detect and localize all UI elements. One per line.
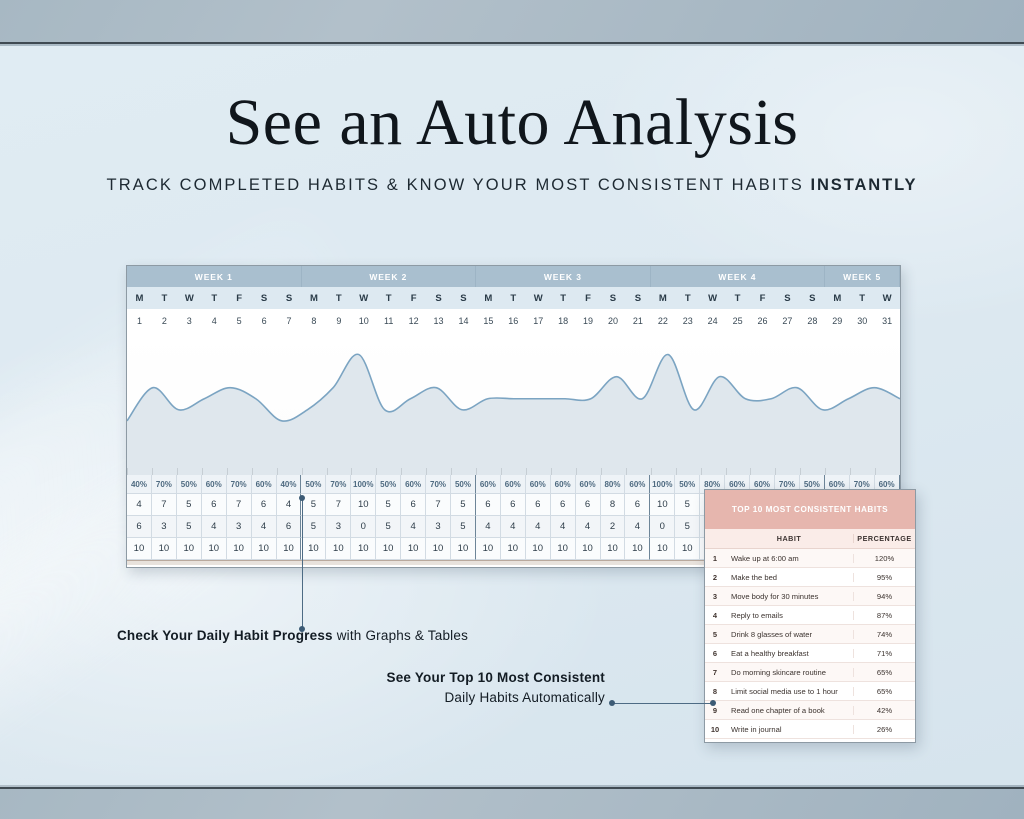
completed-cell-17[interactable]: 6 — [526, 494, 551, 516]
day-letter-cell-3: W — [177, 287, 202, 309]
bottom-frame-band — [0, 787, 1024, 819]
callout-graphs-tables: Check Your Daily Habit Progress with Gra… — [0, 626, 585, 646]
percent-cell-11[interactable]: 50% — [376, 475, 401, 494]
top-10-row[interactable]: 3Move body for 30 minutes94% — [705, 587, 915, 606]
total-cell-7[interactable]: 10 — [277, 538, 302, 560]
day-number-cell-24: 24 — [700, 309, 725, 332]
completed-cell-7[interactable]: 4 — [277, 494, 302, 516]
top-10-habit-name: Move body for 30 minutes — [725, 592, 853, 601]
day-number-cell-14: 14 — [451, 309, 476, 332]
top-10-habit-name: Drink 8 glasses of water — [725, 630, 853, 639]
completed-cell-14[interactable]: 5 — [451, 494, 476, 516]
percent-cell-3[interactable]: 50% — [177, 475, 202, 494]
percent-cell-1[interactable]: 40% — [127, 475, 152, 494]
percent-cell-6[interactable]: 60% — [252, 475, 277, 494]
day-letter-cell-1: M — [127, 287, 152, 309]
missed-cell-16[interactable]: 4 — [501, 516, 526, 538]
day-letter-cell-20: S — [601, 287, 626, 309]
missed-cell-14[interactable]: 5 — [451, 516, 476, 538]
missed-cell-6[interactable]: 4 — [252, 516, 277, 538]
axis-tick-26 — [750, 468, 775, 475]
day-letter-cell-18: T — [551, 287, 576, 309]
day-number-cell-23: 23 — [675, 309, 700, 332]
connector-dot-bottom — [299, 626, 305, 632]
percent-cell-14[interactable]: 50% — [451, 475, 476, 494]
callout-top-10: See Your Top 10 Most Consistent Daily Ha… — [0, 668, 605, 707]
percent-cell-7[interactable]: 40% — [277, 475, 302, 494]
day-number-cell-8: 8 — [301, 309, 326, 332]
habit-area-chart[interactable] — [127, 332, 900, 475]
week-header-3: WEEK 3 — [476, 266, 651, 287]
total-cell-1[interactable]: 10 — [127, 538, 152, 560]
missed-cell-9[interactable]: 3 — [326, 516, 351, 538]
day-letter-cell-23: T — [675, 287, 700, 309]
day-letter-cell-30: T — [850, 287, 875, 309]
top-10-habit-percentage: 87% — [853, 611, 915, 620]
missed-cell-11[interactable]: 5 — [376, 516, 401, 538]
connector-dot-left — [609, 700, 615, 706]
percent-cell-4[interactable]: 60% — [202, 475, 227, 494]
total-cell-20[interactable]: 10 — [601, 538, 626, 560]
top-10-habit-col-header: HABIT — [725, 534, 853, 543]
top-10-habit-percentage: 42% — [853, 706, 915, 715]
axis-tick-2 — [152, 468, 177, 475]
top-10-habit-percentage: 65% — [853, 687, 915, 696]
total-cell-6[interactable]: 10 — [252, 538, 277, 560]
percent-cell-15[interactable]: 60% — [476, 475, 501, 494]
day-letter-cell-19: F — [576, 287, 601, 309]
completed-cell-10[interactable]: 10 — [351, 494, 376, 516]
total-cell-16[interactable]: 10 — [501, 538, 526, 560]
callout-two-bold: See Your Top 10 Most Consistent — [387, 670, 605, 685]
top-frame-band — [0, 0, 1024, 44]
axis-tick-1 — [127, 468, 152, 475]
total-cell-3[interactable]: 10 — [177, 538, 202, 560]
day-number-cell-21: 21 — [625, 309, 650, 332]
top-10-rank-10: 10 — [705, 725, 725, 734]
percent-cell-8[interactable]: 50% — [301, 475, 326, 494]
chart-axis-ticks — [127, 468, 900, 475]
axis-tick-22 — [651, 468, 676, 475]
day-number-cell-1: 1 — [127, 309, 152, 332]
top-10-habit-percentage: 65% — [853, 668, 915, 677]
completed-cell-13[interactable]: 7 — [426, 494, 451, 516]
top-10-column-header-row: HABIT PERCENTAGE — [705, 529, 915, 549]
day-letter-cell-24: W — [700, 287, 725, 309]
day-letter-cell-12: F — [401, 287, 426, 309]
axis-tick-8 — [302, 468, 327, 475]
missed-cell-13[interactable]: 3 — [426, 516, 451, 538]
day-letter-cell-8: M — [301, 287, 326, 309]
day-number-cell-25: 25 — [725, 309, 750, 332]
top-10-habit-name: Read one chapter of a book — [725, 706, 853, 715]
percent-cell-19[interactable]: 60% — [576, 475, 601, 494]
top-10-rank-8: 8 — [705, 687, 725, 696]
day-letter-cell-28: S — [800, 287, 825, 309]
week-header-1: WEEK 1 — [127, 266, 302, 287]
total-cell-4[interactable]: 10 — [202, 538, 227, 560]
completed-cell-19[interactable]: 6 — [576, 494, 601, 516]
page-title: See an Auto Analysis — [0, 88, 1024, 157]
day-letter-cell-7: S — [277, 287, 302, 309]
top-10-row[interactable]: 9Read one chapter of a book42% — [705, 701, 915, 720]
top-10-row[interactable]: 1Wake up at 6:00 am120% — [705, 549, 915, 568]
completed-cell-5[interactable]: 7 — [227, 494, 252, 516]
top-10-rank-2: 2 — [705, 573, 725, 582]
top-10-habits-card[interactable]: TOP 10 MOST CONSISTENT HABITS HABIT PERC… — [704, 489, 916, 743]
total-cell-8[interactable]: 10 — [301, 538, 326, 560]
axis-tick-14 — [451, 468, 476, 475]
total-cell-19[interactable]: 10 — [576, 538, 601, 560]
axis-tick-21 — [626, 468, 651, 475]
missed-cell-15[interactable]: 4 — [476, 516, 501, 538]
day-letter-cell-5: F — [227, 287, 252, 309]
day-letter-cell-13: S — [426, 287, 451, 309]
axis-tick-6 — [252, 468, 277, 475]
completed-cell-18[interactable]: 6 — [551, 494, 576, 516]
axis-tick-11 — [376, 468, 401, 475]
axis-tick-5 — [227, 468, 252, 475]
day-number-cell-4: 4 — [202, 309, 227, 332]
axis-tick-25 — [726, 468, 751, 475]
top-10-percentage-col-header: PERCENTAGE — [853, 534, 915, 543]
total-cell-11[interactable]: 10 — [376, 538, 401, 560]
missed-cell-12[interactable]: 4 — [401, 516, 426, 538]
day-number-cell-16: 16 — [501, 309, 526, 332]
top-10-habit-name: Limit social media use to 1 hour — [725, 687, 853, 696]
day-number-cell-2: 2 — [152, 309, 177, 332]
missed-cell-19[interactable]: 4 — [576, 516, 601, 538]
week-header-2: WEEK 2 — [302, 266, 477, 287]
axis-tick-3 — [177, 468, 202, 475]
callout-two-normal: Daily Habits Automatically — [444, 690, 605, 705]
completed-cell-12[interactable]: 6 — [401, 494, 426, 516]
percent-cell-13[interactable]: 70% — [426, 475, 451, 494]
day-letter-cell-16: T — [501, 287, 526, 309]
day-letter-cell-4: T — [202, 287, 227, 309]
week-header-row: WEEK 1WEEK 2WEEK 3WEEK 4WEEK 5 — [127, 266, 900, 287]
total-cell-13[interactable]: 10 — [426, 538, 451, 560]
day-number-cell-7: 7 — [277, 309, 302, 332]
missed-cell-4[interactable]: 4 — [202, 516, 227, 538]
axis-tick-17 — [526, 468, 551, 475]
completed-cell-8[interactable]: 5 — [301, 494, 326, 516]
top-10-habit-name: Reply to emails — [725, 611, 853, 620]
missed-cell-20[interactable]: 2 — [601, 516, 626, 538]
top-10-row[interactable]: 6Eat a healthy breakfast71% — [705, 644, 915, 663]
total-cell-10[interactable]: 10 — [351, 538, 376, 560]
day-number-cell-22: 22 — [650, 309, 675, 332]
top-10-habit-percentage: 94% — [853, 592, 915, 601]
day-letter-cell-27: S — [775, 287, 800, 309]
total-cell-15[interactable]: 10 — [476, 538, 501, 560]
top-10-habit-name: Make the bed — [725, 573, 853, 582]
day-number-cell-10: 10 — [351, 309, 376, 332]
axis-tick-23 — [676, 468, 701, 475]
missed-cell-10[interactable]: 0 — [351, 516, 376, 538]
day-number-cell-26: 26 — [750, 309, 775, 332]
top-10-habit-name: Eat a healthy breakfast — [725, 649, 853, 658]
page-subtitle: TRACK COMPLETED HABITS & KNOW YOUR MOST … — [0, 176, 1024, 195]
top-10-rank-5: 5 — [705, 630, 725, 639]
day-number-cell-18: 18 — [551, 309, 576, 332]
day-number-cell-17: 17 — [526, 309, 551, 332]
day-number-row: 1234567891011121314151617181920212223242… — [127, 309, 900, 332]
axis-tick-16 — [501, 468, 526, 475]
top-10-row[interactable]: 7Do morning skincare routine65% — [705, 663, 915, 682]
area-chart-fill — [127, 354, 900, 475]
day-number-cell-5: 5 — [227, 309, 252, 332]
axis-tick-28 — [800, 468, 825, 475]
total-cell-14[interactable]: 10 — [451, 538, 476, 560]
axis-tick-7 — [277, 468, 302, 475]
day-number-cell-28: 28 — [800, 309, 825, 332]
axis-tick-12 — [401, 468, 426, 475]
missed-cell-21[interactable]: 4 — [625, 516, 650, 538]
axis-tick-19 — [576, 468, 601, 475]
top-10-rank-1: 1 — [705, 554, 725, 563]
percent-cell-9[interactable]: 70% — [326, 475, 351, 494]
completed-cell-4[interactable]: 6 — [202, 494, 227, 516]
missed-cell-17[interactable]: 4 — [526, 516, 551, 538]
missed-cell-8[interactable]: 5 — [301, 516, 326, 538]
day-letter-cell-25: T — [725, 287, 750, 309]
missed-cell-2[interactable]: 3 — [152, 516, 177, 538]
axis-tick-31 — [875, 468, 900, 475]
completed-cell-21[interactable]: 6 — [625, 494, 650, 516]
top-10-habit-percentage: 74% — [853, 630, 915, 639]
completed-cell-16[interactable]: 6 — [501, 494, 526, 516]
day-number-cell-12: 12 — [401, 309, 426, 332]
axis-tick-30 — [850, 468, 875, 475]
missed-cell-5[interactable]: 3 — [227, 516, 252, 538]
day-number-cell-27: 27 — [775, 309, 800, 332]
percent-cell-22[interactable]: 100% — [650, 475, 675, 494]
day-number-cell-15: 15 — [476, 309, 501, 332]
top-10-row[interactable]: 5Drink 8 glasses of water74% — [705, 625, 915, 644]
day-number-cell-30: 30 — [850, 309, 875, 332]
top-10-rank-7: 7 — [705, 668, 725, 677]
top-10-habit-percentage: 71% — [853, 649, 915, 658]
total-cell-17[interactable]: 10 — [526, 538, 551, 560]
day-letter-cell-31: W — [875, 287, 900, 309]
completed-cell-2[interactable]: 7 — [152, 494, 177, 516]
missed-cell-1[interactable]: 6 — [127, 516, 152, 538]
percent-cell-17[interactable]: 60% — [526, 475, 551, 494]
axis-tick-20 — [601, 468, 626, 475]
top-10-card-title: TOP 10 MOST CONSISTENT HABITS — [705, 490, 915, 529]
top-10-habit-name: Wake up at 6:00 am — [725, 554, 853, 563]
day-letter-cell-6: S — [252, 287, 277, 309]
missed-cell-7[interactable]: 6 — [277, 516, 302, 538]
day-letter-row: MTWTFSSMTWTFSSMTWTFSSMTWTFSSMTW — [127, 287, 900, 309]
day-letter-cell-21: S — [625, 287, 650, 309]
top-10-habit-percentage: 120% — [853, 554, 915, 563]
connector-dot-top — [299, 495, 305, 501]
subtitle-normal-text: TRACK COMPLETED HABITS & KNOW YOUR MOST … — [107, 176, 811, 194]
top-10-table-body: 1Wake up at 6:00 am120%2Make the bed95%3… — [705, 549, 915, 739]
top-10-rank-4: 4 — [705, 611, 725, 620]
completed-cell-20[interactable]: 8 — [601, 494, 626, 516]
completed-cell-6[interactable]: 6 — [252, 494, 277, 516]
axis-tick-10 — [351, 468, 376, 475]
top-10-rank-6: 6 — [705, 649, 725, 658]
percent-cell-16[interactable]: 60% — [501, 475, 526, 494]
day-number-cell-29: 29 — [825, 309, 850, 332]
percent-cell-21[interactable]: 60% — [625, 475, 650, 494]
day-letter-cell-22: M — [650, 287, 675, 309]
top-10-row[interactable]: 2Make the bed95% — [705, 568, 915, 587]
top-10-habit-name: Do morning skincare routine — [725, 668, 853, 677]
top-10-habit-percentage: 26% — [853, 725, 915, 734]
total-cell-22[interactable]: 10 — [650, 538, 675, 560]
completed-cell-1[interactable]: 4 — [127, 494, 152, 516]
axis-tick-4 — [202, 468, 227, 475]
total-cell-9[interactable]: 10 — [326, 538, 351, 560]
top-10-rank-9: 9 — [705, 706, 725, 715]
day-number-cell-13: 13 — [426, 309, 451, 332]
missed-cell-22[interactable]: 0 — [650, 516, 675, 538]
day-number-cell-11: 11 — [376, 309, 401, 332]
day-letter-cell-10: W — [351, 287, 376, 309]
day-number-cell-3: 3 — [177, 309, 202, 332]
completed-cell-22[interactable]: 10 — [650, 494, 675, 516]
day-letter-cell-9: T — [326, 287, 351, 309]
day-number-cell-9: 9 — [326, 309, 351, 332]
day-letter-cell-11: T — [376, 287, 401, 309]
total-cell-23[interactable]: 10 — [675, 538, 700, 560]
missed-cell-23[interactable]: 5 — [675, 516, 700, 538]
total-cell-5[interactable]: 10 — [227, 538, 252, 560]
top-10-row[interactable]: 8Limit social media use to 1 hour65% — [705, 682, 915, 701]
axis-tick-18 — [551, 468, 576, 475]
day-number-cell-19: 19 — [576, 309, 601, 332]
connector-dot-right — [710, 700, 716, 706]
week-header-4: WEEK 4 — [651, 266, 826, 287]
day-number-cell-31: 31 — [875, 309, 900, 332]
area-chart-svg — [127, 332, 900, 475]
axis-tick-29 — [825, 468, 850, 475]
axis-tick-27 — [775, 468, 800, 475]
top-10-row[interactable]: 10Write in journal26% — [705, 720, 915, 739]
percent-cell-18[interactable]: 60% — [551, 475, 576, 494]
day-number-cell-6: 6 — [252, 309, 277, 332]
axis-tick-9 — [327, 468, 352, 475]
day-letter-cell-26: F — [750, 287, 775, 309]
total-cell-2[interactable]: 10 — [152, 538, 177, 560]
callout-one-normal: with Graphs & Tables — [333, 628, 468, 643]
completed-cell-9[interactable]: 7 — [326, 494, 351, 516]
axis-tick-13 — [426, 468, 451, 475]
percent-cell-20[interactable]: 80% — [601, 475, 626, 494]
connector-line-horizontal — [612, 703, 713, 704]
total-cell-21[interactable]: 10 — [625, 538, 650, 560]
day-letter-cell-15: M — [476, 287, 501, 309]
top-10-rank-3: 3 — [705, 592, 725, 601]
day-letter-cell-2: T — [152, 287, 177, 309]
percent-cell-2[interactable]: 70% — [152, 475, 177, 494]
percent-cell-5[interactable]: 70% — [227, 475, 252, 494]
slide-stage: See an Auto Analysis TRACK COMPLETED HAB… — [0, 46, 1024, 785]
completed-cell-23[interactable]: 5 — [675, 494, 700, 516]
missed-cell-3[interactable]: 5 — [177, 516, 202, 538]
percent-cell-23[interactable]: 50% — [675, 475, 700, 494]
week-header-5: WEEK 5 — [825, 266, 900, 287]
day-letter-cell-29: M — [825, 287, 850, 309]
total-cell-12[interactable]: 10 — [401, 538, 426, 560]
day-letter-cell-14: S — [451, 287, 476, 309]
top-10-habit-name: Write in journal — [725, 725, 853, 734]
missed-cell-18[interactable]: 4 — [551, 516, 576, 538]
axis-tick-15 — [476, 468, 501, 475]
percent-cell-12[interactable]: 60% — [401, 475, 426, 494]
completed-cell-15[interactable]: 6 — [476, 494, 501, 516]
connector-line-vertical — [302, 498, 303, 629]
total-cell-18[interactable]: 10 — [551, 538, 576, 560]
top-10-habit-percentage: 95% — [853, 573, 915, 582]
axis-tick-24 — [701, 468, 726, 475]
completed-cell-3[interactable]: 5 — [177, 494, 202, 516]
completed-cell-11[interactable]: 5 — [376, 494, 401, 516]
percent-cell-10[interactable]: 100% — [351, 475, 376, 494]
top-10-row[interactable]: 4Reply to emails87% — [705, 606, 915, 625]
day-number-cell-20: 20 — [601, 309, 626, 332]
subtitle-bold-text: INSTANTLY — [811, 176, 918, 194]
day-letter-cell-17: W — [526, 287, 551, 309]
